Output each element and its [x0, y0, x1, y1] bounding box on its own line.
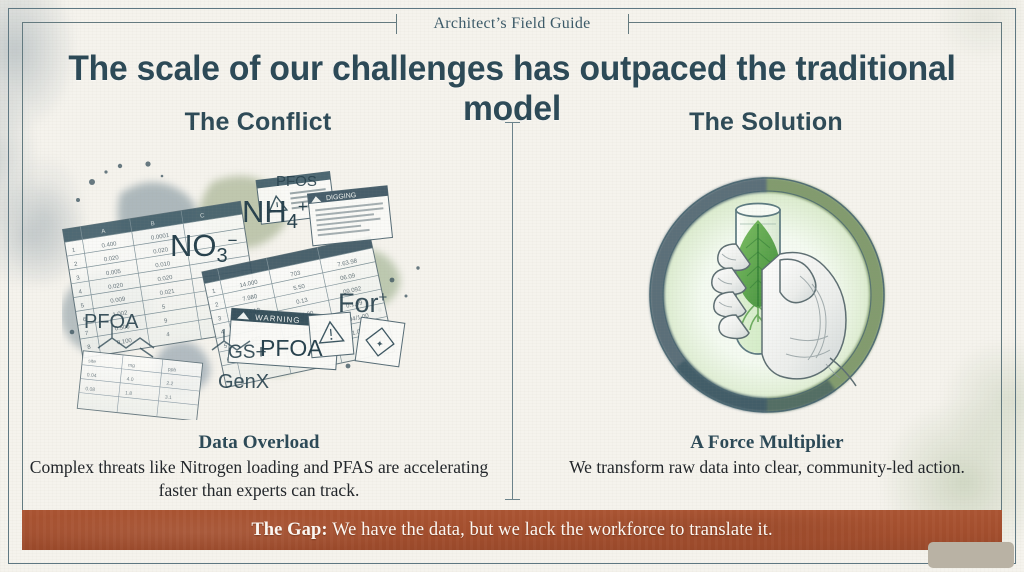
caption-body-data-overload: Complex threats like Nitrogen loading an… — [28, 456, 490, 502]
eyebrow-label: Architect’s Field Guide — [0, 15, 1024, 33]
svg-text:3.1: 3.1 — [165, 395, 173, 402]
data-overload-collage: AB C 10.4000.0001 20.0200.020 30.0050.01… — [62, 160, 462, 420]
svg-text:0.08: 0.08 — [85, 386, 96, 393]
caption-title-data-overload: Data Overload — [28, 432, 490, 454]
svg-text:NO3−: NO3− — [170, 228, 238, 267]
svg-text:2.2: 2.2 — [166, 381, 174, 388]
gap-banner-rest: We have the data, but we lack the workfo… — [328, 520, 773, 540]
caption-title-force-multiplier: A Force Multiplier — [536, 432, 998, 454]
caption-conflict: Data Overload Complex threats like Nitro… — [28, 432, 490, 502]
gap-banner: The Gap: We have the data, but we lack t… — [22, 510, 1002, 550]
svg-text:GS+: GS+ — [228, 342, 267, 363]
corner-badge — [928, 542, 1014, 568]
force-multiplier-illustration — [640, 168, 894, 422]
svg-text:0.04: 0.04 — [86, 372, 97, 379]
svg-text:ppb: ppb — [167, 367, 176, 374]
svg-text:PFOA: PFOA — [260, 335, 323, 361]
column-divider — [512, 122, 513, 500]
svg-text:GenX: GenX — [218, 371, 269, 393]
svg-text:PFOS: PFOS — [276, 173, 317, 190]
svg-text:site: site — [88, 358, 97, 365]
svg-text:1.8: 1.8 — [125, 390, 133, 397]
caption-body-force-multiplier: We transform raw data into clear, commun… — [536, 456, 998, 479]
gap-banner-text: The Gap: We have the data, but we lack t… — [251, 520, 772, 541]
page-title: The scale of our challenges has outpaced… — [49, 49, 974, 129]
svg-text:4.0: 4.0 — [126, 376, 134, 383]
caption-solution: A Force Multiplier We transform raw data… — [536, 432, 998, 479]
svg-text:PFOA: PFOA — [84, 311, 139, 333]
svg-text:mg: mg — [128, 362, 136, 369]
svg-text:NH4+: NH4+ — [242, 194, 308, 233]
slide-canvas: AB C 10.4000.0001 20.0200.020 30.0050.01… — [0, 0, 1024, 572]
gap-banner-lead: The Gap: — [251, 520, 327, 540]
